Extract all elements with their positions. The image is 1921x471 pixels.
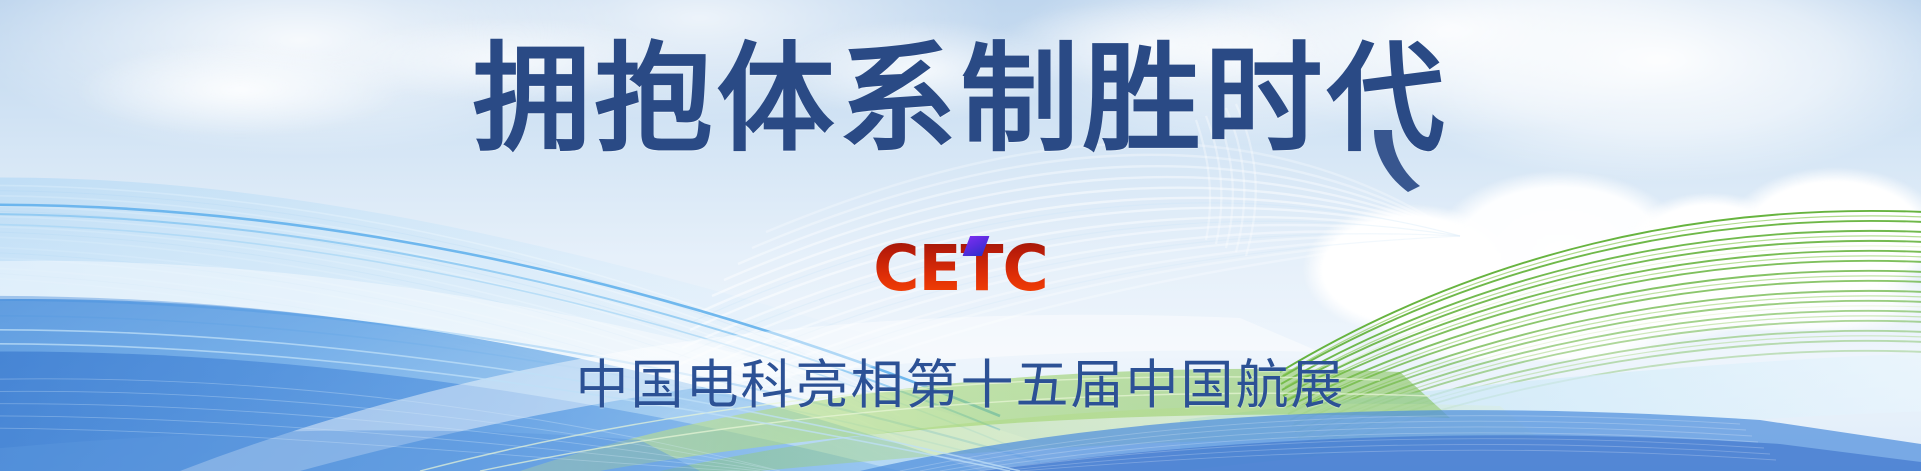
banner-subtitle: 中国电科亮相第十五届中国航展 bbox=[0, 343, 1921, 419]
banner-content: 拥抱体系制胜时代 CETC 中国电科亮相第十五届中国航展 bbox=[0, 0, 1921, 471]
cetc-logo: CETC bbox=[873, 238, 1047, 300]
cetc-logo-wrapper: CETC bbox=[0, 238, 1921, 300]
cetc-logo-text: CETC bbox=[873, 232, 1047, 305]
cetc-airshow-banner: 拥抱体系制胜时代 CETC 中国电科亮相第十五届中国航展 bbox=[0, 0, 1921, 471]
banner-headline: 拥抱体系制胜时代 bbox=[0, 34, 1921, 166]
